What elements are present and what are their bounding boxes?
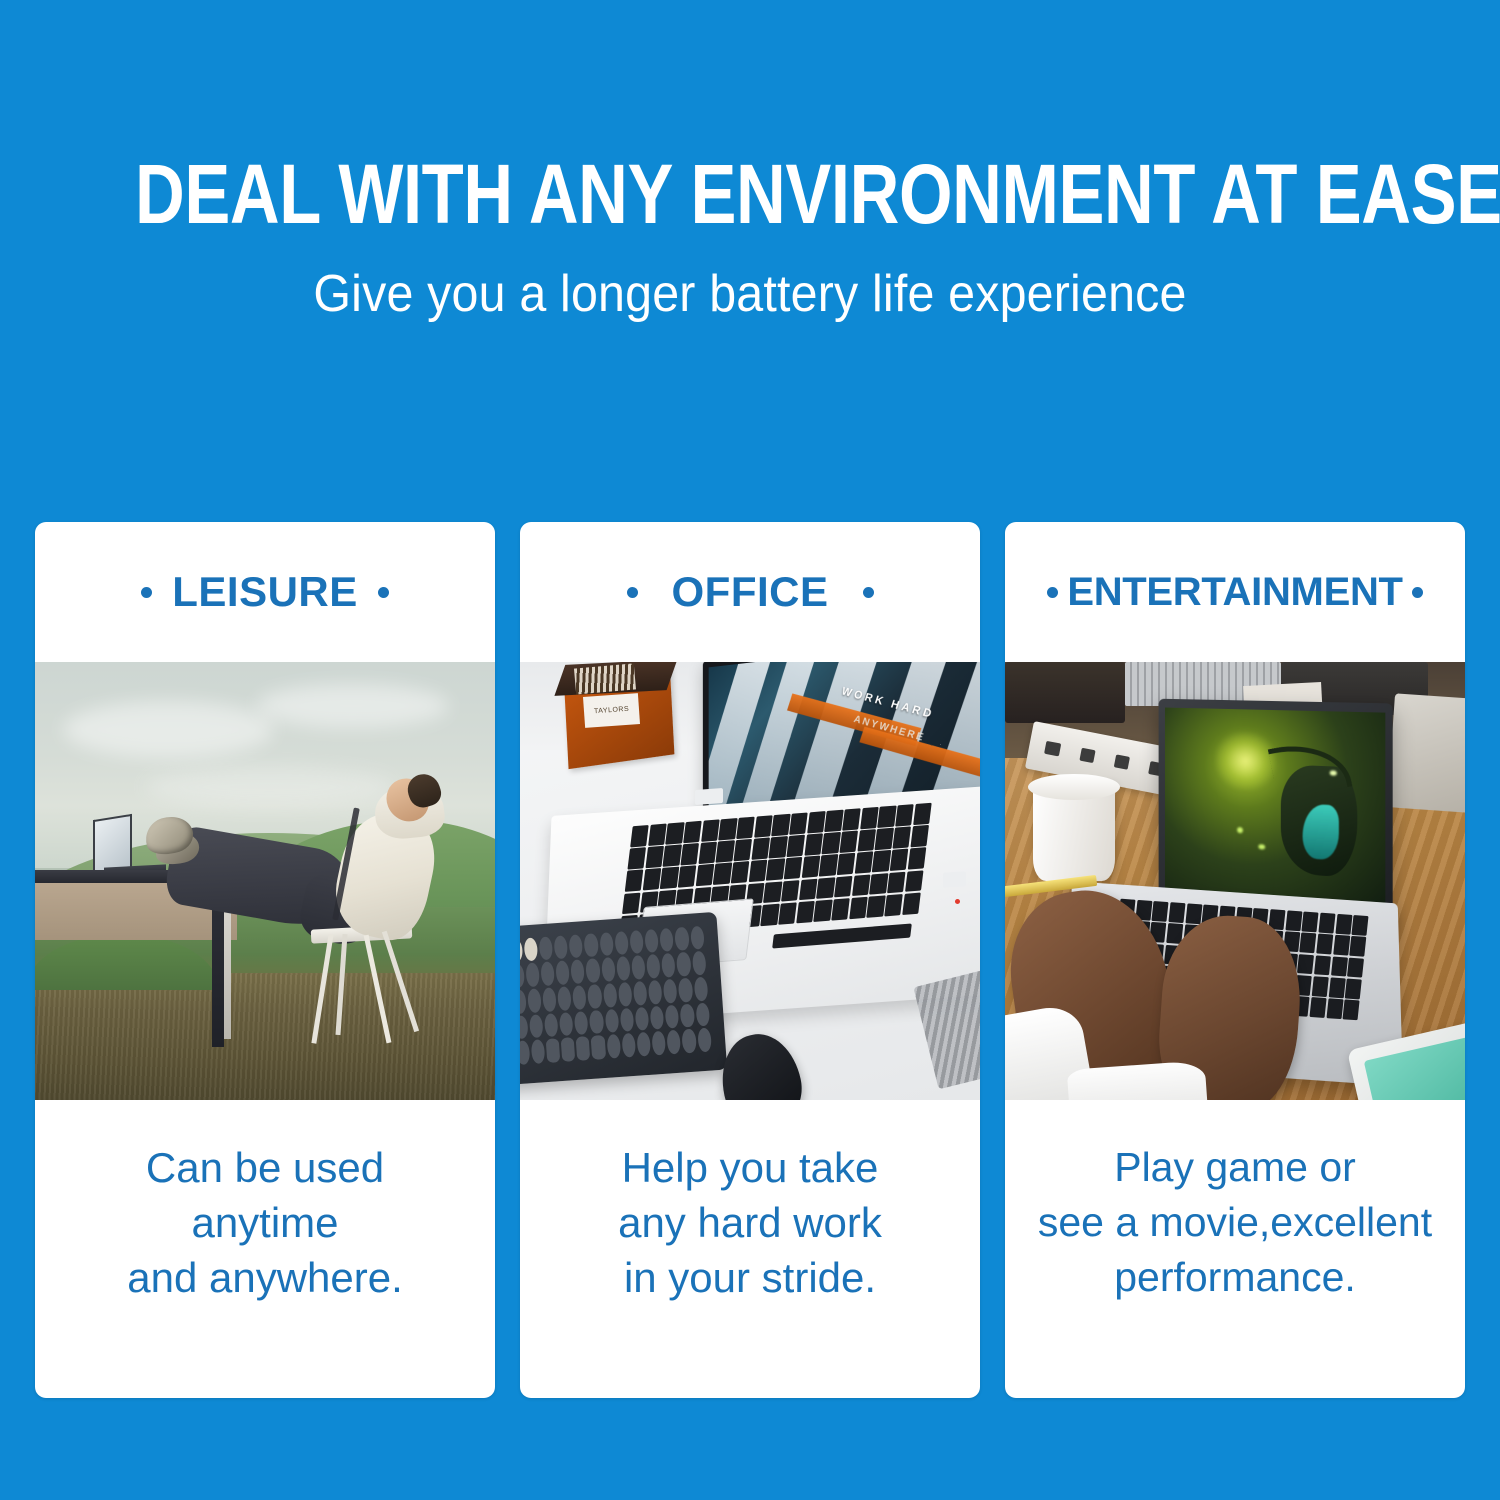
card-photo-entertainment [1005, 662, 1465, 1100]
page-subtitle: Give you a longer battery life experienc… [53, 264, 1448, 324]
caption-line: Help you take [622, 1140, 879, 1195]
feature-card-office[interactable]: OFFICE WORK HARD ANYWHERE [520, 522, 980, 1398]
caption-line: see a movie,excellent [1038, 1195, 1432, 1250]
card-caption-leisure: Can be used anytime and anywhere. [35, 1100, 495, 1398]
caption-line: and anywhere. [127, 1250, 403, 1305]
card-title-entertainment: ENTERTAINMENT [1005, 522, 1465, 662]
caption-line: Can be used [146, 1140, 384, 1195]
bullet-dot-icon [627, 587, 638, 598]
card-title-label: LEISURE [172, 568, 358, 616]
page-title: DEAL WITH ANY ENVIRONMENT AT EASE [135, 148, 1365, 240]
caption-line: Play game or [1114, 1140, 1356, 1195]
bullet-dot-icon [863, 587, 874, 598]
bullet-dot-icon [141, 587, 152, 598]
feature-card-entertainment[interactable]: ENTERTAINMENT [1005, 522, 1465, 1398]
caption-line: anytime [191, 1195, 338, 1250]
card-title-label: OFFICE [672, 568, 829, 616]
card-title-office: OFFICE [520, 522, 980, 662]
bullet-dot-icon [378, 587, 389, 598]
card-title-label: ENTERTAINMENT [1067, 570, 1402, 615]
feature-card-row: LEISURE [35, 522, 1465, 1398]
card-photo-leisure [35, 662, 495, 1100]
bullet-dot-icon [1412, 587, 1423, 598]
external-keyboard [520, 912, 728, 1086]
caption-line: in your stride. [624, 1250, 876, 1305]
tea-box-label: TAYLORS [583, 693, 640, 727]
caption-line: performance. [1114, 1250, 1356, 1305]
card-caption-office: Help you take any hard work in your stri… [520, 1100, 980, 1398]
card-title-leisure: LEISURE [35, 522, 495, 662]
card-photo-office: WORK HARD ANYWHERE TAYLORS [520, 662, 980, 1100]
feature-card-leisure[interactable]: LEISURE [35, 522, 495, 1398]
bullet-dot-icon [1047, 587, 1058, 598]
caption-line: any hard work [618, 1195, 882, 1250]
card-caption-entertainment: Play game or see a movie,excellent perfo… [1005, 1100, 1465, 1398]
header: DEAL WITH ANY ENVIRONMENT AT EASE Give y… [0, 0, 1500, 324]
